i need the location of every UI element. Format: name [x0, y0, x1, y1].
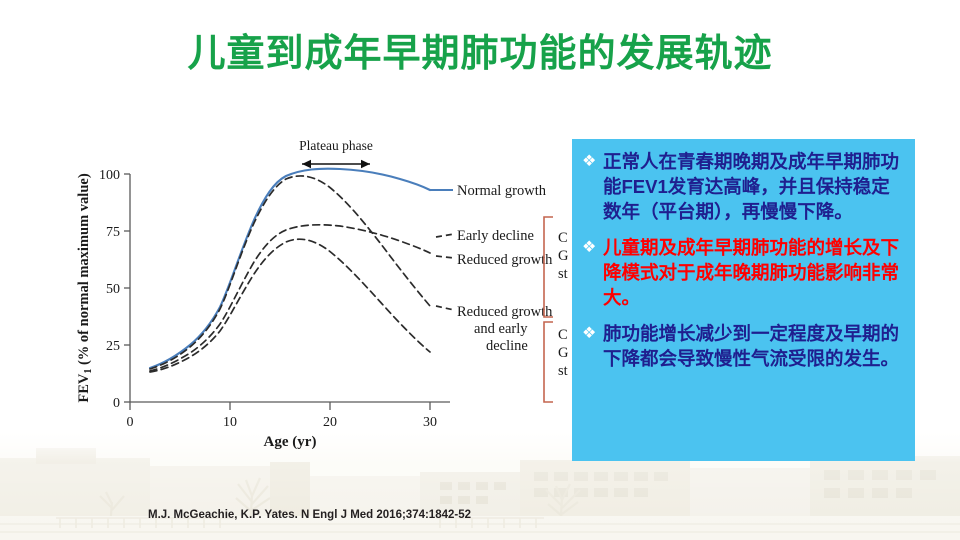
x-axis-label: Age (yr) — [264, 434, 317, 450]
lung-function-trajectory-chart: 0 25 50 75 100 0 10 20 30 Age (yr) FEV1 … — [58, 134, 568, 450]
svg-text:FEV1 (% of normal maximum valu: FEV1 (% of normal maximum value) — [76, 173, 94, 402]
chart-legend: Normal growth Early decline Reduced grow… — [430, 183, 553, 354]
plateau-phase-annotation: Plateau phase — [299, 138, 373, 168]
copd-stage3-line3: stage 3 — [558, 363, 568, 379]
legend-line-early-decline — [436, 234, 454, 237]
copd-gold-labels: COPD, GOLD stage 2 COPD, GOLD stage 3 — [558, 230, 568, 379]
x-tick-30: 30 — [423, 415, 437, 430]
arrow-left-head — [302, 160, 311, 168]
x-axis-ticks — [130, 402, 430, 410]
y-axis-label: FEV1 (% of normal maximum value) — [76, 173, 94, 402]
callout-bullet-3: ❖ 肺功能增长减少到一定程度及早期的下降都会导致慢性气流受限的发生。 — [582, 321, 903, 371]
legend-label-reduced-growth: Reduced growth — [457, 252, 553, 268]
y-tick-50: 50 — [106, 282, 120, 297]
copd-stage3-line1: COPD, — [558, 327, 568, 343]
arrow-right-head — [361, 160, 370, 168]
legend-label-normal-growth: Normal growth — [457, 183, 547, 199]
callout-bullet-1: ❖ 正常人在青春期晚期及成年早期肺功能FEV1发育达高峰，并且保持稳定数年（平台… — [582, 149, 903, 224]
callout-bullet-2: ❖ 儿童期及成年早期肺功能的增长及下降模式对于成年晚期肺功能影响非常大。 — [582, 235, 903, 310]
y-tick-0: 0 — [113, 396, 120, 411]
x-tick-0: 0 — [127, 415, 134, 430]
callout-bullet-3-text: 肺功能增长减少到一定程度及早期的下降都会导致慢性气流受限的发生。 — [603, 321, 903, 371]
curve-normal-growth — [150, 169, 430, 368]
y-tick-25: 25 — [106, 339, 120, 354]
y-axis-tick-labels: 0 25 50 75 100 — [99, 168, 120, 411]
x-tick-20: 20 — [323, 415, 337, 430]
x-tick-10: 10 — [223, 415, 237, 430]
copd-stage2-line1: COPD, — [558, 230, 568, 246]
plateau-phase-label: Plateau phase — [299, 138, 373, 153]
diamond-bullet-icon: ❖ — [582, 235, 603, 260]
bracket-stage-3 — [544, 322, 553, 402]
chart-svg: 0 25 50 75 100 0 10 20 30 Age (yr) FEV1 … — [58, 134, 568, 450]
callout-bullet-2-text: 儿童期及成年早期肺功能的增长及下降模式对于成年晚期肺功能影响非常大。 — [603, 235, 903, 310]
summary-callout-box: ❖ 正常人在青春期晚期及成年早期肺功能FEV1发育达高峰，并且保持稳定数年（平台… — [572, 139, 915, 461]
page-title: 儿童到成年早期肺功能的发展轨迹 — [0, 22, 960, 77]
copd-stage3-line2: GOLD — [558, 345, 568, 361]
legend-label-reduced-growth-early-decline-3: decline — [486, 338, 528, 354]
curve-early-decline — [150, 176, 430, 369]
x-axis-tick-labels: 0 10 20 30 — [127, 415, 438, 430]
y-axis-ticks — [124, 174, 130, 402]
diamond-bullet-icon: ❖ — [582, 321, 603, 346]
legend-label-early-decline: Early decline — [457, 228, 534, 244]
copd-stage2-line2: GOLD — [558, 248, 568, 264]
legend-label-reduced-growth-early-decline-1: Reduced growth — [457, 304, 553, 320]
callout-bullet-1-text: 正常人在青春期晚期及成年早期肺功能FEV1发育达高峰，并且保持稳定数年（平台期）… — [603, 149, 903, 224]
diamond-bullet-icon: ❖ — [582, 149, 603, 174]
y-tick-100: 100 — [99, 168, 120, 183]
copd-stage2-line3: stage 2 — [558, 266, 568, 282]
y-tick-75: 75 — [106, 225, 120, 240]
curve-reduced-growth — [150, 225, 430, 371]
citation-text: M.J. McGeachie, K.P. Yates. N Engl J Med… — [148, 509, 471, 521]
legend-label-reduced-growth-early-decline-2: and early — [474, 321, 528, 337]
legend-line-reduced-growth — [436, 256, 454, 258]
legend-line-reduced-growth-early-decline — [436, 306, 454, 310]
